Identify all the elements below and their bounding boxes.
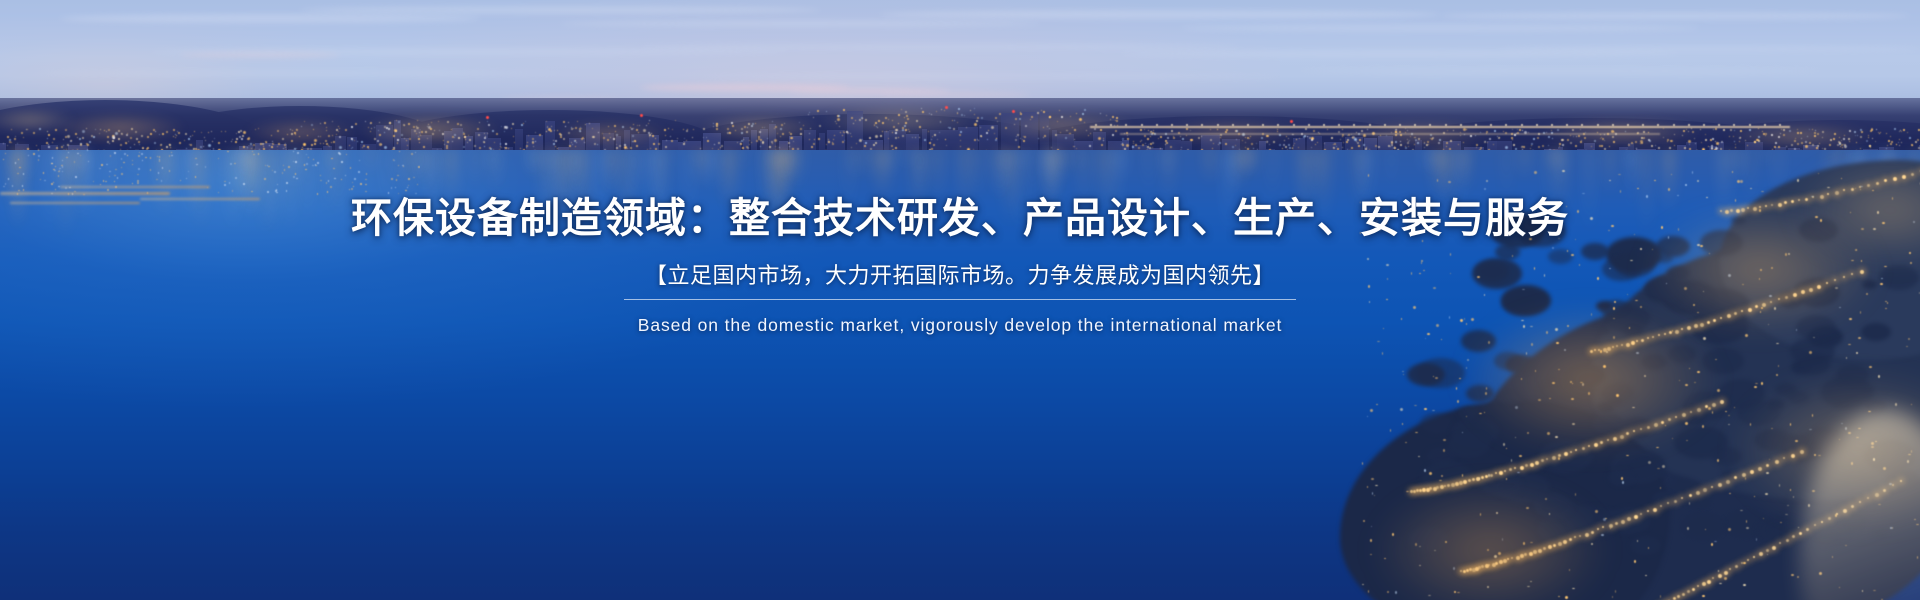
- city-light: [882, 122, 884, 124]
- city-light: [671, 140, 673, 142]
- city-light: [271, 135, 272, 136]
- city-light: [1405, 128, 1406, 129]
- city-light: [729, 132, 731, 134]
- city-light: [1022, 139, 1023, 140]
- city-light: [1367, 129, 1368, 130]
- city-light: [683, 129, 684, 130]
- light-reflection: [1077, 150, 1080, 175]
- shore-light: [158, 172, 159, 174]
- peninsula-light: [1679, 380, 1680, 381]
- peninsula-light: [1746, 520, 1747, 523]
- city-light: [613, 138, 615, 140]
- peninsula-light: [1450, 273, 1451, 274]
- peninsula-light: [1769, 295, 1772, 297]
- city-light: [290, 129, 291, 130]
- city-light: [1573, 136, 1574, 137]
- light-reflection: [435, 150, 439, 197]
- city-light: [320, 136, 321, 137]
- shore-light: [293, 176, 295, 178]
- city-light: [769, 146, 771, 148]
- shore-light: [267, 191, 269, 193]
- city-light: [1424, 147, 1425, 148]
- city-light: [627, 148, 628, 149]
- city-light: [563, 138, 565, 140]
- city-light: [1795, 138, 1796, 139]
- city-light: [1783, 129, 1785, 131]
- city-light: [1822, 131, 1824, 133]
- shore-light: [330, 186, 332, 188]
- city-light: [1775, 142, 1777, 144]
- city-light: [1098, 137, 1101, 140]
- city-light: [777, 133, 778, 134]
- city-light: [91, 135, 93, 137]
- peninsula-light: [1809, 429, 1812, 430]
- shore-light: [205, 166, 206, 168]
- city-light: [780, 136, 781, 137]
- light-reflection: [610, 150, 613, 200]
- city-light: [47, 138, 48, 139]
- peninsula-light: [1546, 331, 1548, 334]
- city-light: [1839, 137, 1840, 138]
- city-light: [1875, 141, 1876, 142]
- city-light: [1789, 130, 1791, 132]
- peninsula-light: [1820, 219, 1822, 222]
- promenade-light: [1682, 593, 1685, 596]
- shore-light: [276, 192, 278, 193]
- peninsula-light: [1609, 268, 1611, 269]
- city-light: [839, 126, 840, 127]
- city-light: [1640, 140, 1643, 143]
- city-light: [389, 122, 391, 124]
- bridge-light: [1536, 124, 1538, 126]
- city-light: [511, 128, 512, 129]
- city-light: [895, 132, 897, 134]
- city-light: [716, 125, 718, 127]
- city-light: [875, 122, 877, 124]
- city-light: [1735, 144, 1736, 145]
- city-light: [634, 140, 636, 142]
- shore-light: [28, 155, 29, 156]
- tree-canopy: [1702, 348, 1744, 374]
- city-light: [1470, 135, 1472, 137]
- light-reflection: [632, 150, 636, 221]
- city-light: [1375, 145, 1377, 147]
- city-light: [1103, 140, 1104, 141]
- peninsula-light: [1575, 493, 1576, 496]
- tree-canopy: [1420, 413, 1453, 434]
- city-light: [1256, 143, 1257, 144]
- city-light: [1220, 137, 1221, 138]
- shore-light: [327, 191, 328, 193]
- city-light: [593, 136, 595, 138]
- city-light: [568, 122, 569, 123]
- peninsula-light: [1367, 258, 1369, 260]
- tree-canopy: [1633, 461, 1656, 475]
- city-light: [759, 131, 761, 133]
- peninsula-light: [1728, 528, 1731, 531]
- city-light: [304, 121, 305, 122]
- bridge-light: [1156, 124, 1158, 126]
- city-light: [835, 121, 836, 122]
- city-light: [1542, 145, 1544, 147]
- city-light: [850, 133, 851, 134]
- shore-light: [253, 154, 255, 155]
- peninsula-light: [1616, 394, 1619, 397]
- city-light: [1447, 130, 1448, 131]
- city-light: [782, 133, 784, 135]
- shore-light: [297, 152, 299, 154]
- city-light: [514, 142, 515, 143]
- city-light: [1277, 129, 1278, 130]
- peninsula-light: [1612, 596, 1613, 598]
- bridge-light: [1141, 124, 1143, 126]
- city-light: [843, 109, 845, 111]
- light-reflection: [868, 150, 871, 180]
- promenade-light: [1765, 205, 1767, 207]
- shore-light: [360, 183, 362, 185]
- city-light: [1625, 131, 1626, 132]
- peninsula-light: [1645, 575, 1647, 576]
- promenade-light: [1647, 510, 1649, 512]
- city-light: [686, 130, 688, 132]
- peninsula-light: [1527, 432, 1529, 434]
- city-light: [686, 140, 687, 141]
- shore-light: [62, 166, 63, 168]
- city-light: [550, 130, 552, 132]
- city-light: [624, 144, 626, 146]
- city-light: [15, 136, 16, 137]
- promenade-light: [1771, 204, 1773, 206]
- city-light: [523, 123, 524, 124]
- city-light: [1548, 145, 1549, 146]
- shore-light: [317, 193, 318, 195]
- peninsula-light: [1819, 572, 1822, 575]
- city-light: [1396, 129, 1397, 130]
- shore-light: [408, 185, 409, 186]
- peninsula-light: [1441, 339, 1442, 340]
- city-light: [1037, 112, 1039, 114]
- peninsula-light: [1657, 468, 1660, 469]
- shore-light: [22, 185, 23, 187]
- city-light: [1849, 141, 1850, 142]
- city-light: [175, 137, 176, 138]
- city-light: [1740, 130, 1742, 132]
- light-reflection: [573, 150, 578, 204]
- shore-light: [316, 165, 317, 166]
- city-light: [505, 126, 508, 129]
- city-light: [444, 144, 445, 145]
- tree-canopy: [1506, 355, 1536, 373]
- promenade-light: [1621, 344, 1623, 346]
- city-light: [526, 145, 528, 147]
- promenade-light: [1726, 480, 1730, 484]
- city-light: [311, 124, 313, 126]
- city-light: [1683, 130, 1685, 132]
- city-light: [1890, 136, 1891, 137]
- light-reflection: [686, 150, 693, 222]
- city-light: [1860, 129, 1862, 131]
- city-light: [916, 120, 918, 122]
- city-light: [832, 143, 834, 145]
- shore-light: [230, 163, 232, 165]
- city-light: [741, 128, 743, 130]
- peninsula-light: [1648, 547, 1649, 549]
- city-light: [1899, 145, 1900, 146]
- city-light: [649, 136, 650, 137]
- city-light: [463, 146, 465, 148]
- promenade-light: [1741, 310, 1743, 312]
- city-light: [454, 137, 455, 138]
- peninsula-light: [1771, 267, 1773, 269]
- city-light: [1715, 128, 1717, 130]
- city-light: [1712, 138, 1714, 140]
- city-light: [1758, 128, 1759, 129]
- peninsula-light: [1464, 318, 1465, 320]
- city-light: [929, 142, 931, 144]
- peninsula-light: [1443, 439, 1446, 441]
- city-light: [1817, 133, 1819, 135]
- city-light: [744, 126, 746, 128]
- peninsula-light: [1916, 524, 1919, 525]
- shore-light: [157, 156, 158, 157]
- city-light: [75, 133, 77, 135]
- city-light: [828, 139, 829, 140]
- city-light: [964, 115, 965, 116]
- city-light: [1866, 140, 1868, 142]
- city-light: [1342, 147, 1343, 148]
- promenade-light: [1543, 547, 1546, 550]
- peninsula-light: [1640, 306, 1642, 308]
- shore-light: [394, 160, 395, 161]
- shore-light: [334, 178, 336, 179]
- peninsula-light: [1558, 369, 1560, 370]
- peninsula-light: [1448, 181, 1451, 183]
- promenade-light: [1516, 556, 1520, 560]
- light-reflection: [532, 150, 536, 175]
- peninsula-light: [1374, 495, 1375, 496]
- city-light: [1144, 135, 1146, 137]
- peninsula-light: [1648, 461, 1651, 464]
- city-light: [464, 136, 466, 138]
- city-light: [1705, 139, 1707, 141]
- city-light: [21, 132, 23, 134]
- city-light: [1030, 119, 1031, 120]
- promenade-light: [1821, 521, 1823, 523]
- city-light: [1857, 135, 1858, 136]
- city-light: [1346, 141, 1348, 143]
- city-light: [176, 135, 177, 136]
- city-light: [1830, 139, 1832, 141]
- city-light: [1856, 142, 1857, 143]
- shore-light: [53, 182, 54, 183]
- city-light: [243, 131, 246, 134]
- city-light: [1100, 113, 1101, 114]
- shore-light: [110, 155, 111, 157]
- city-light: [345, 129, 347, 131]
- city-light: [974, 123, 977, 126]
- promenade-light: [1753, 207, 1757, 211]
- peninsula-light: [1715, 359, 1717, 360]
- peninsula-light: [1634, 234, 1635, 235]
- peninsula-light: [1383, 328, 1384, 329]
- peninsula-light: [1685, 184, 1687, 186]
- city-light: [82, 130, 85, 133]
- city-light: [1288, 144, 1290, 146]
- peninsula-light: [1745, 477, 1746, 480]
- city-light: [483, 141, 485, 143]
- city-light: [1140, 141, 1141, 142]
- shore-light: [218, 192, 219, 193]
- city-light: [1876, 129, 1877, 130]
- city-light: [1267, 141, 1268, 142]
- peninsula-light: [1494, 555, 1497, 558]
- peninsula-light: [1368, 285, 1370, 288]
- shore-light: [274, 171, 276, 173]
- promenade-light: [1826, 282, 1828, 284]
- bridge-light: [1703, 124, 1705, 126]
- city-light: [819, 125, 821, 127]
- promenade-light: [1529, 552, 1533, 556]
- shore-light: [288, 166, 290, 168]
- promenade-light: [1591, 531, 1594, 534]
- city-light: [320, 123, 321, 124]
- city-light: [1142, 144, 1144, 146]
- peninsula-light: [1909, 252, 1911, 254]
- peninsula-light: [1529, 238, 1532, 240]
- shore-light: [180, 180, 181, 181]
- city-light: [1894, 128, 1896, 130]
- city-light: [1025, 125, 1027, 127]
- city-light: [585, 124, 586, 125]
- city-light: [1127, 135, 1128, 136]
- bridge-light: [1308, 124, 1310, 126]
- city-light: [1147, 138, 1149, 140]
- tree-canopy: [1490, 214, 1545, 248]
- city-light: [1315, 144, 1316, 145]
- city-light: [1498, 137, 1500, 139]
- city-light: [941, 109, 942, 110]
- city-light: [425, 131, 427, 133]
- city-light: [505, 143, 507, 145]
- light-reflection: [976, 150, 979, 203]
- peninsula-light: [1914, 519, 1916, 520]
- peninsula-light: [1779, 484, 1780, 487]
- city-light: [1115, 130, 1117, 132]
- city-light: [1428, 144, 1429, 145]
- city-light: [1915, 141, 1917, 143]
- city-light: [915, 137, 916, 138]
- shore-light: [77, 153, 79, 154]
- tree-canopy: [1614, 251, 1655, 277]
- shore-light: [403, 166, 404, 167]
- city-light: [1043, 127, 1044, 128]
- city-light: [1860, 148, 1861, 149]
- city-light: [888, 119, 889, 120]
- shore-light: [312, 165, 314, 166]
- city-light: [55, 129, 57, 131]
- peninsula-light: [1522, 289, 1525, 290]
- light-reflection: [672, 150, 674, 175]
- city-light: [430, 128, 432, 130]
- city-light: [555, 140, 557, 142]
- city-light: [413, 126, 415, 128]
- city-light: [1284, 140, 1285, 141]
- peninsula-light: [1767, 554, 1768, 555]
- peninsula-light: [1750, 423, 1751, 426]
- peninsula-light: [1635, 300, 1638, 301]
- city-light: [1551, 130, 1552, 131]
- city-light: [1530, 148, 1531, 149]
- city-light: [1848, 138, 1850, 140]
- city-light: [1182, 138, 1184, 140]
- city-light: [772, 121, 773, 122]
- city-light: [1327, 129, 1328, 130]
- promenade-light: [1590, 350, 1593, 353]
- peninsula-light: [1761, 191, 1764, 192]
- shore-light: [186, 178, 187, 179]
- city-light: [1729, 136, 1730, 137]
- city-light: [1497, 136, 1498, 137]
- city-light: [326, 130, 327, 131]
- bridge-light: [1627, 124, 1629, 126]
- city-light: [1686, 129, 1687, 130]
- peninsula-light: [1436, 230, 1437, 232]
- city-light: [616, 147, 618, 149]
- city-light: [307, 135, 308, 136]
- city-light: [764, 127, 765, 128]
- promenade-light: [1720, 317, 1722, 319]
- shore-light: [252, 151, 253, 152]
- peninsula-light: [1460, 319, 1463, 322]
- city-light: [512, 123, 514, 125]
- city-light: [1166, 142, 1168, 144]
- peninsula-light: [1774, 307, 1776, 310]
- shore-road: [140, 198, 260, 200]
- peninsula-light: [1917, 556, 1918, 559]
- city-light: [1267, 135, 1269, 137]
- city-light: [248, 137, 250, 139]
- peninsula-light: [1591, 313, 1592, 316]
- city-light: [1066, 130, 1067, 131]
- shore-light: [114, 181, 115, 182]
- city-light: [1594, 140, 1596, 142]
- bridge-light: [1749, 124, 1751, 126]
- shore-light: [127, 155, 128, 156]
- city-light: [1094, 128, 1096, 130]
- city-light: [1730, 129, 1732, 131]
- peninsula-light: [1890, 527, 1892, 529]
- city-light: [732, 125, 734, 127]
- peninsula-light: [1750, 188, 1752, 189]
- city-light: [1100, 129, 1102, 131]
- city-light: [895, 137, 897, 139]
- light-reflection: [963, 150, 968, 215]
- city-light: [379, 122, 380, 123]
- city-light: [368, 127, 369, 128]
- shore-light: [218, 158, 219, 159]
- shore-light: [341, 161, 343, 163]
- city-light: [355, 123, 357, 125]
- city-light: [1273, 141, 1275, 143]
- shore-light: [366, 173, 367, 175]
- shore-light: [277, 184, 278, 185]
- city-light: [1557, 129, 1559, 131]
- bridge-light: [1171, 124, 1173, 126]
- city-light: [1311, 147, 1312, 148]
- promenade-light: [1734, 312, 1737, 315]
- city-light: [1380, 135, 1381, 136]
- shore-light: [40, 179, 41, 180]
